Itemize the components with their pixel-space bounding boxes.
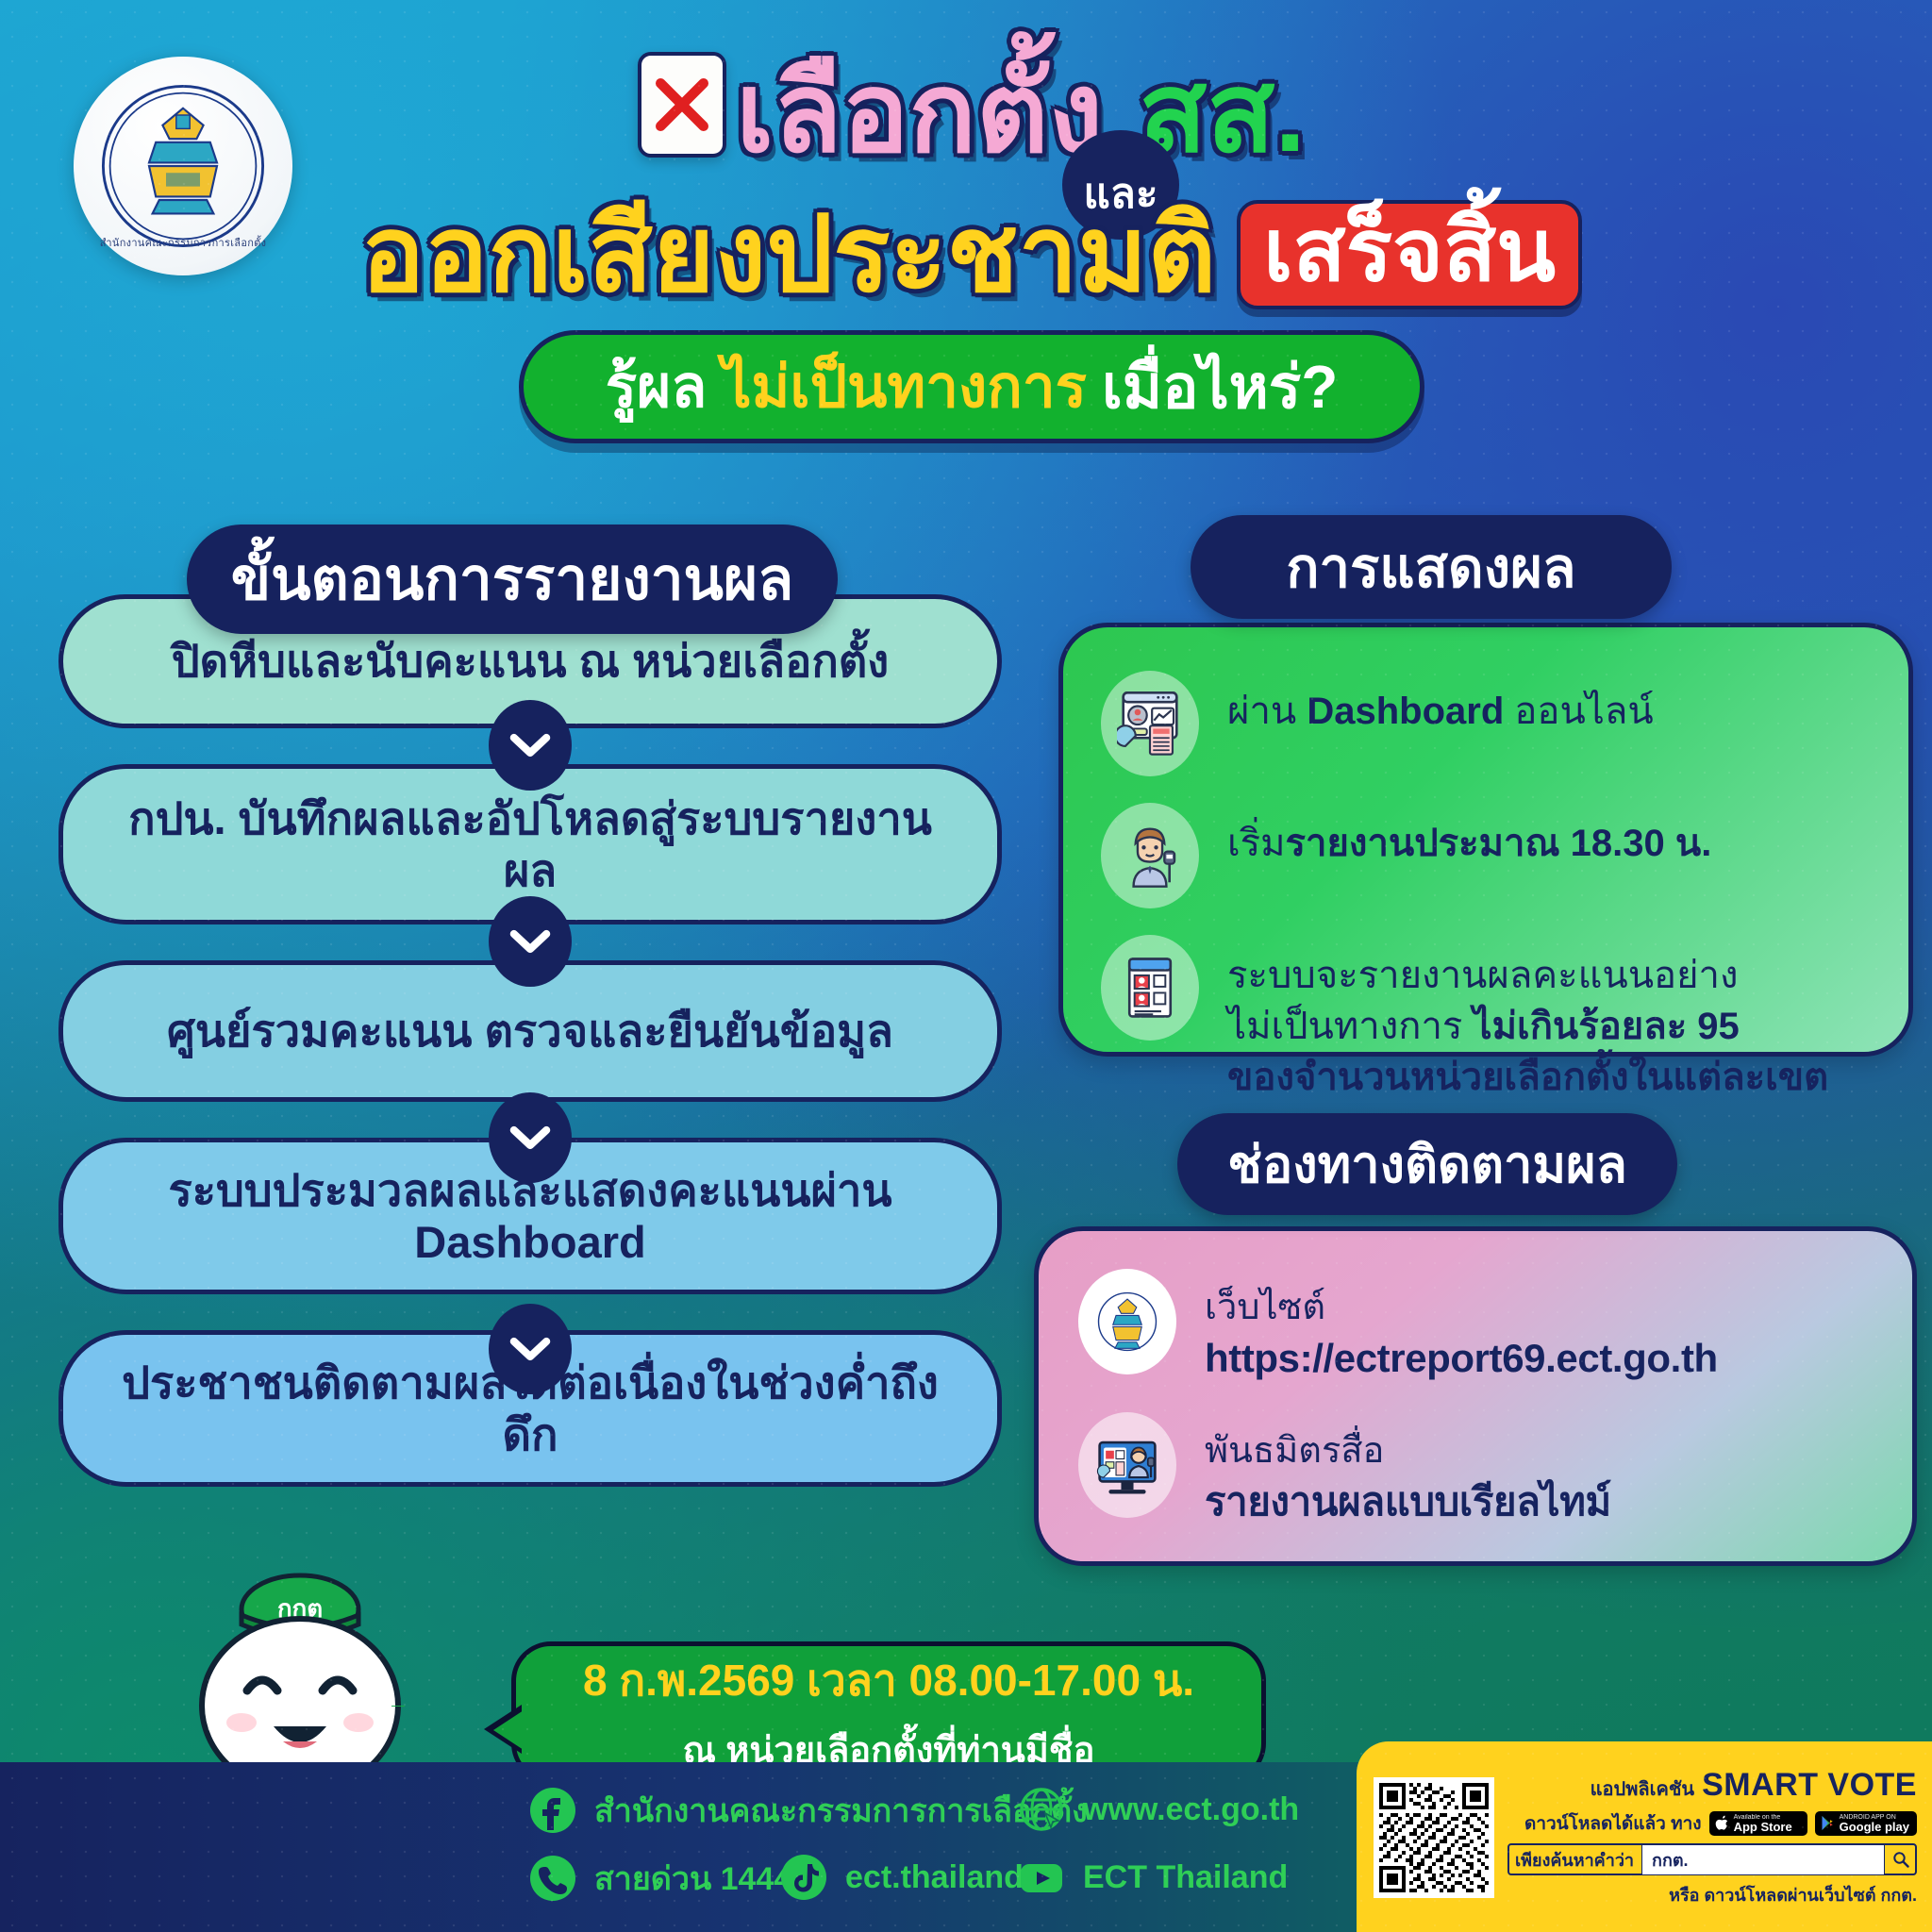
footer-contact-website[interactable]: www.ect.go.th [1017,1785,1299,1834]
display-text-normal: ไม่เป็นทางการ [1227,1006,1474,1047]
display-line: ระบบจะรายงานผลคะแนนอย่าง [1227,950,1828,1001]
display-bullet: เริ่มรายงานประมาณ 18.30 น. [1101,803,1876,908]
youtube-icon [1017,1853,1066,1902]
question-banner: รู้ผล ไม่เป็นทางการ เมื่อไหร่? [519,330,1424,443]
phone-icon [528,1854,577,1903]
googleplay-top-label: ANDROID APP ON [1840,1814,1909,1821]
chevron-down-icon [489,896,572,987]
smartvote-alt-text: หรือ ดาวน์โหลดผ่านเว็บไซต์ กกต. [1507,1881,1917,1908]
footer-contact-tiktok[interactable]: ect.thailand [779,1853,1024,1902]
display-line: เริ่มรายงานประมาณ 18.30 น. [1227,818,1711,869]
qr-code[interactable] [1374,1777,1494,1898]
channel-bullet: เว็บไซต์ https://ectreport69.ect.go.th [1078,1269,1884,1386]
date-line-1: 8 ก.พ.2569 เวลา 08.00-17.00 น. [583,1646,1194,1715]
ballot-x-box [638,52,726,158]
display-text-normal: ผ่าน [1227,691,1307,732]
headline-referendum: ออกเสียงประชามติ [361,202,1216,308]
footer-contact-label: ECT Thailand [1083,1859,1288,1896]
footer-contact-facebook[interactable]: สำนักงานคณะกรรมการการเลือกตั้ง [528,1785,1088,1836]
globe-icon [1017,1785,1066,1834]
step-label: ศูนย์รวมคะแนน ตรวจและยืนยันข้อมูล [167,1005,893,1057]
display-bullet: ระบบจะรายงานผลคะแนนอย่าง ไม่เป็นทางการ ไ… [1101,935,1876,1103]
steps-flow: ปิดหีบและนับคะแนน ณ หน่วยเลือกตั้ง กปน. … [58,594,1002,1487]
media-partner-monitor-icon [1078,1412,1176,1518]
search-icon [1892,1851,1909,1868]
display-text-tail: ออนไลน์ [1504,691,1653,732]
headline-block: เลือกตั้ง สส. และ ออกเสียงประชามติ เสร็จ… [283,32,1660,443]
step-label: ปิดหีบและนับคะแนน ณ หน่วยเลือกตั้ง [172,635,890,687]
footer-contact-label: www.ect.go.th [1083,1791,1299,1828]
headline-finished-pill: เสร็จสิ้น [1237,200,1582,309]
search-prefix-label: เพียงค้นหาคำว่า [1515,1846,1634,1874]
seal-ring-text: สำนักงานคณะกรรมการการเลือกตั้ง [74,234,292,251]
googleplay-bottom-label: Google play [1840,1821,1909,1834]
google-play-badge[interactable]: ANDROID APP ON Google play [1815,1811,1917,1837]
chevron-down-icon [489,1304,572,1394]
footer-contact-label: ect.thailand [845,1859,1024,1896]
step-label: กปน. บันทึกผลและอัปโหลดสู่ระบบรายงานผล [118,792,942,897]
section-title-steps-label: ขั้นตอนการรายงานผล [231,533,794,625]
banner-unofficial: ไม่เป็นทางการ [722,341,1087,433]
x-mark-icon [649,72,715,138]
google-play-icon [1821,1815,1835,1831]
banner-when: เมื่อไหร่? [1102,339,1338,435]
reporter-microphone-icon [1101,803,1199,908]
channel-bullet: พันธมิตรสื่อ รายงานผลแบบเรียลไทม์ [1078,1412,1884,1529]
channel-url[interactable]: https://ectreport69.ect.go.th [1205,1332,1718,1386]
display-text-bold: รายงานประมาณ 18.30 น. [1286,823,1712,864]
tiktok-icon [779,1853,828,1902]
ballot-screen-icon [1101,935,1199,1041]
infographic-poster: สำนักงานคณะกรรมการการเลือกตั้ง เลือกตั้ง… [0,0,1932,1932]
banner-know-result: รู้ผล [606,341,708,433]
display-text-normal: ระบบจะรายงานผลคะแนนอย่าง [1227,955,1739,996]
apple-icon [1715,1815,1729,1831]
appstore-top-label: Available on the [1734,1814,1792,1821]
channels-card: เว็บไซต์ https://ectreport69.ect.go.th [1034,1226,1917,1566]
chevron-down-icon [489,700,572,791]
channel-value: รายงานผลแบบเรียลไทม์ [1205,1475,1611,1529]
smartvote-search-hint[interactable]: เพียงค้นหาคำว่า กกต. [1507,1843,1917,1875]
smartvote-download-text: ดาวน์โหลดได้แล้ว ทาง [1524,1809,1702,1838]
smart-vote-panel: แอปพลิเคชัน SMART VOTE ดาวน์โหลดได้แล้ว … [1357,1741,1932,1932]
ect-seal-icon [98,81,268,251]
footer-contact-label: สายด่วน 1444 [594,1853,791,1904]
display-text-normal: เริ่ม [1227,823,1286,864]
section-title-channels: ช่องทางติดตามผล [1177,1113,1677,1215]
footer-contact-youtube[interactable]: ECT Thailand [1017,1853,1288,1902]
section-title-display-label: การแสดงผล [1286,524,1575,611]
search-keyword[interactable]: กกต. [1641,1844,1885,1875]
display-line: ไม่เป็นทางการ ไม่เกินร้อยละ 95 [1227,1001,1828,1052]
headline-elect: เลือกตั้ง [736,58,1103,169]
ect-seal: สำนักงานคณะกรรมการการเลือกตั้ง [74,57,292,275]
appstore-bottom-label: App Store [1734,1821,1792,1834]
smartvote-app-prefix: แอปพลิเคชัน [1591,1774,1695,1804]
facebook-icon [528,1786,577,1835]
display-text-bold: Dashboard [1307,691,1504,732]
display-line: ของจำนวนหน่วยเลือกตั้งในแต่ละเขต [1227,1052,1828,1103]
display-line: ผ่าน Dashboard ออนไลน์ [1227,686,1654,737]
chevron-down-icon [489,1092,572,1183]
channel-label: เว็บไซต์ [1205,1284,1718,1332]
display-text-bold: ไม่เกินร้อยละ 95 [1474,1006,1740,1047]
dashboard-report-icon [1101,671,1199,776]
section-title-channels-label: ช่องทางติดตามผล [1227,1124,1627,1205]
headline-finished-label: เสร็จสิ้น [1263,203,1556,299]
smartvote-brand: SMART VOTE [1702,1767,1917,1804]
display-text-bold: ของจำนวนหน่วยเลือกตั้งในแต่ละเขต [1227,1057,1828,1098]
footer-contact-label: สำนักงานคณะกรรมการการเลือกตั้ง [594,1785,1088,1836]
display-bullet: ผ่าน Dashboard ออนไลน์ [1101,671,1876,776]
section-title-steps: ขั้นตอนการรายงานผล [187,525,838,634]
ect-seal-icon [1078,1269,1176,1374]
section-title-display: การแสดงผล [1191,515,1672,619]
app-store-badge[interactable]: Available on the App Store [1709,1811,1807,1837]
footer-contact-phone[interactable]: สายด่วน 1444 [528,1853,791,1904]
display-card: ผ่าน Dashboard ออนไลน์ [1058,623,1913,1057]
channel-label: พันธมิตรสื่อ [1205,1427,1611,1475]
